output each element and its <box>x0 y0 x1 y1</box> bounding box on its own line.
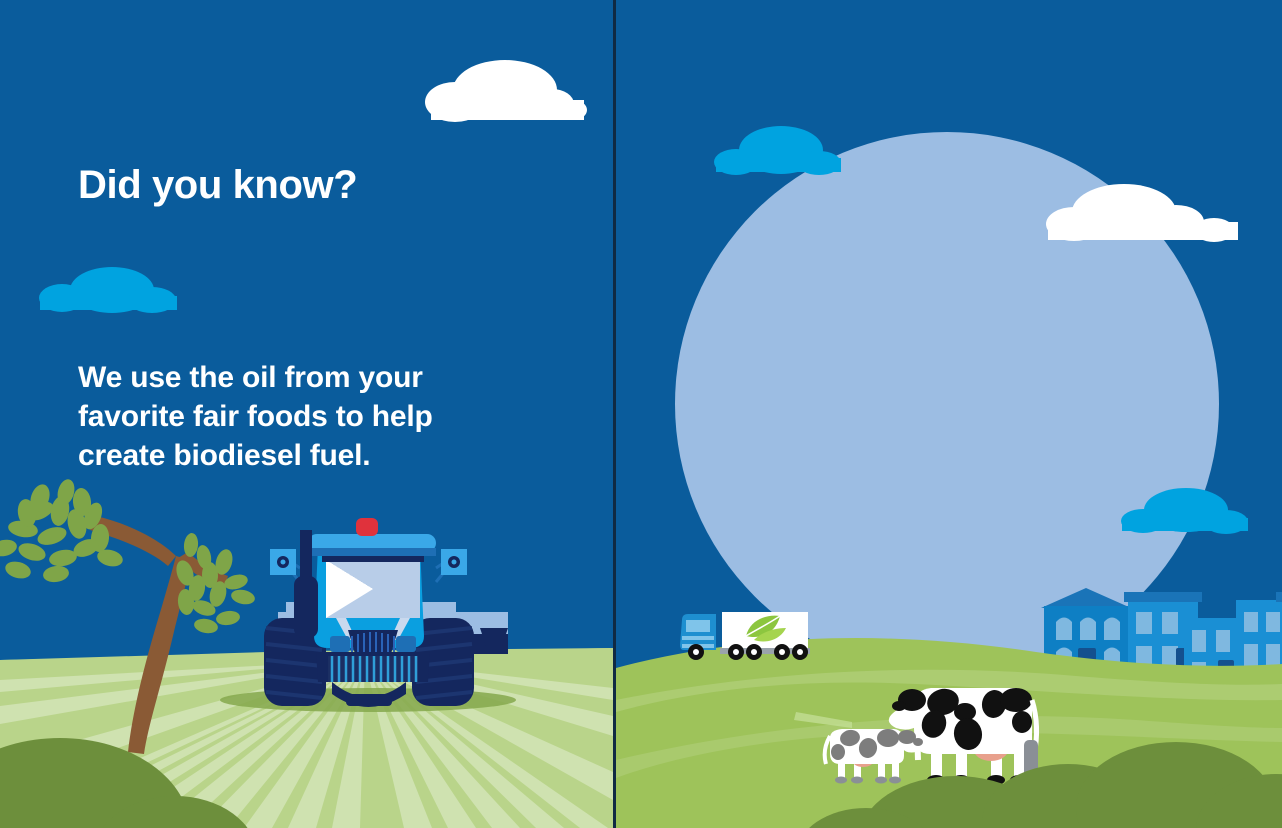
right-panel: delivering the future of energy <box>616 0 1282 828</box>
body-copy: We use the oil from your favorite fair f… <box>78 358 518 475</box>
left-panel: Did you know? We use the oil from your f… <box>0 0 613 828</box>
illustration-canvas: Did you know? We use the oil from your f… <box>0 0 1282 828</box>
page-headline: Did you know? <box>78 163 558 207</box>
right-scene-svg <box>616 0 1282 828</box>
panel-divider <box>613 0 616 828</box>
semi-truck <box>680 612 810 660</box>
beacon-light-icon <box>356 518 378 536</box>
